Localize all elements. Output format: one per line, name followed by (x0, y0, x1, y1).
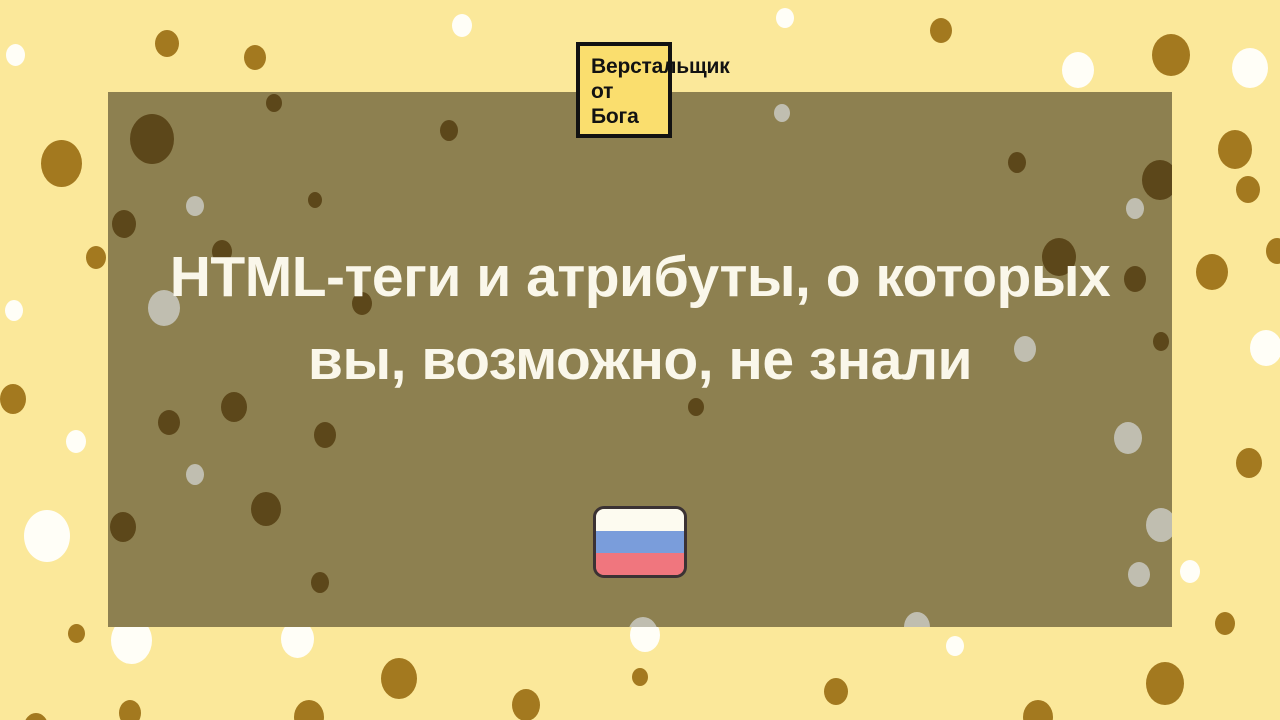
confetti-dot (1023, 700, 1053, 720)
confetti-dot (946, 636, 964, 656)
flag-band-blue (596, 531, 684, 553)
confetti-dot (68, 624, 85, 643)
confetti-dot (1236, 448, 1262, 478)
confetti-dot (1062, 52, 1094, 88)
confetti-dot (930, 18, 952, 43)
confetti-dot (512, 689, 540, 720)
confetti-dot (244, 45, 266, 70)
confetti-dot (155, 30, 179, 57)
confetti-dot (776, 8, 794, 28)
presentation-slide: Верстальщик от Бога HTML-теги и атрибуты… (0, 0, 1280, 720)
confetti-dot (381, 658, 417, 699)
confetti-dot (1152, 34, 1190, 76)
flag-band-white (596, 509, 684, 531)
flag-band-red (596, 553, 684, 575)
confetti-dot (1232, 48, 1268, 88)
confetti-dot (1218, 130, 1252, 169)
confetti-dot (632, 668, 648, 686)
confetti-dot (1146, 662, 1184, 705)
russia-flag-icon (593, 506, 687, 578)
confetti-dot (24, 713, 48, 720)
confetti-dot (66, 430, 86, 453)
slide-headline: HTML-теги и атрибуты, о которых вы, возм… (0, 236, 1280, 402)
confetti-dot (452, 14, 472, 37)
confetti-dot (294, 700, 324, 720)
confetti-dot (6, 44, 25, 66)
logo-badge[interactable]: Верстальщик от Бога (576, 42, 672, 138)
confetti-dot (41, 140, 82, 187)
logo-text: Верстальщик от Бога (591, 54, 851, 129)
confetti-dot (1215, 612, 1235, 635)
confetti-dot (24, 510, 70, 562)
confetti-dot (824, 678, 848, 705)
confetti-dot (1180, 560, 1200, 583)
confetti-dot (119, 700, 141, 720)
confetti-dot (1236, 176, 1260, 203)
